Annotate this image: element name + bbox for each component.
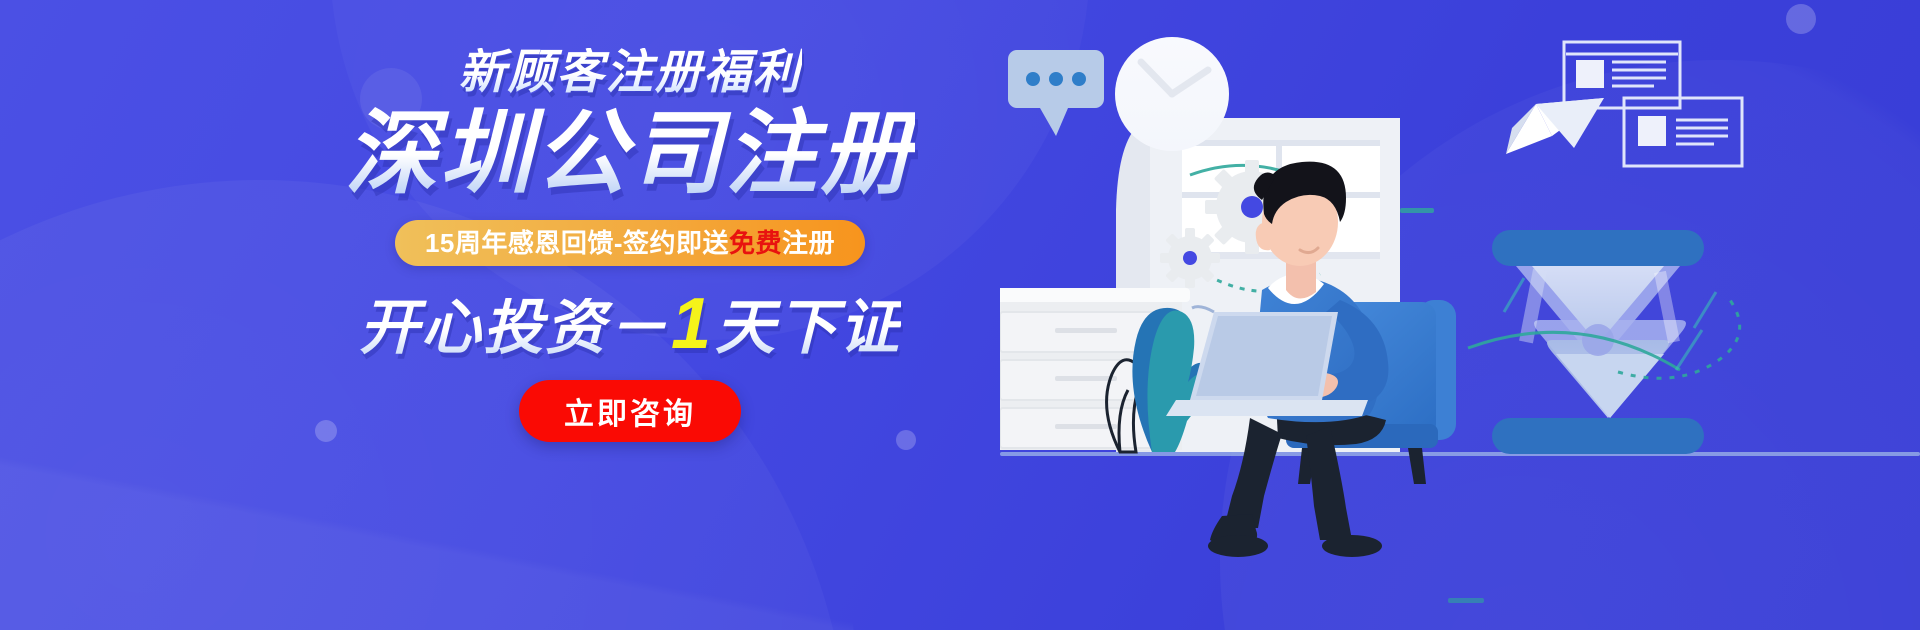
paper-plane-icon bbox=[1506, 98, 1604, 154]
illustration bbox=[1000, 0, 1920, 630]
hourglass-icon bbox=[1468, 230, 1740, 454]
page-title: 深圳公司注册 bbox=[345, 105, 915, 204]
chat-bubble-icon bbox=[1008, 50, 1104, 136]
promo-pill-highlight: 免费 bbox=[729, 230, 782, 256]
promo-pill: 15周年感恩回馈-签约即送 免费 注册 bbox=[395, 220, 865, 266]
subline-number: 1 bbox=[669, 288, 715, 360]
promo-pill-suffix: 注册 bbox=[782, 230, 835, 256]
subline: 开心投资－ 1 天下证 bbox=[359, 288, 901, 360]
consult-now-button[interactable]: 立即咨询 bbox=[519, 380, 741, 442]
clock-icon bbox=[1115, 37, 1229, 151]
floor-line bbox=[1000, 452, 1920, 456]
promo-pill-prefix: 15周年感恩回馈-签约即送 bbox=[425, 230, 729, 256]
consult-now-label: 立即咨询 bbox=[564, 389, 696, 433]
subline-prefix: 开心投资－ bbox=[359, 298, 669, 358]
subline-suffix: 天下证 bbox=[715, 298, 901, 358]
promo-copy: 新顾客注册福利 深圳公司注册 15周年感恩回馈-签约即送 免费 注册 开心投资－… bbox=[300, 48, 960, 442]
promo-banner: 新顾客注册福利 深圳公司注册 15周年感恩回馈-签约即送 免费 注册 开心投资－… bbox=[0, 0, 1920, 630]
eyebrow-text: 新顾客注册福利 bbox=[459, 48, 802, 95]
